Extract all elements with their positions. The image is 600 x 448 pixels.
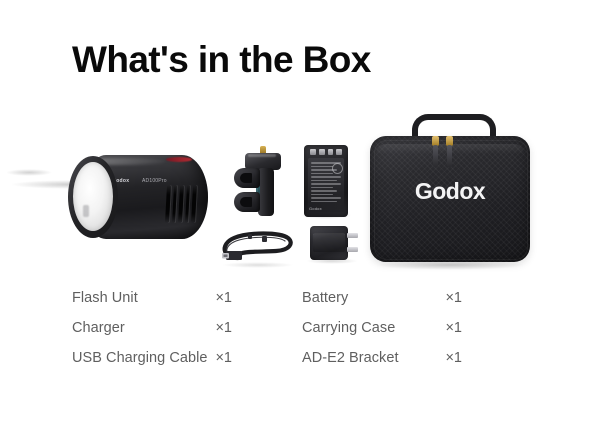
product-image-group: Godox AD100Pro Godox: [0, 100, 600, 280]
box-contents-list: Flash Unit ×1 Charger ×1 USB Charging Ca…: [72, 290, 532, 380]
flash-unit-red-accent: [166, 157, 192, 162]
battery-certification-mark: [332, 163, 343, 174]
bracket-shaft: [258, 168, 274, 216]
box-contents-left-column: Flash Unit ×1 Charger ×1 USB Charging Ca…: [72, 290, 302, 380]
item-quantity: ×1: [215, 290, 302, 306]
item-quantity: ×1: [215, 350, 302, 366]
bracket-clamp-upper: [234, 168, 260, 188]
bracket-shadow: [6, 169, 52, 176]
battery-brand-text: Godox: [309, 206, 322, 211]
item-label: Charger: [72, 320, 125, 336]
carrying-case-logo: Godox: [370, 178, 530, 205]
flash-unit-model-text: AD100Pro: [142, 178, 167, 184]
page-title: What's in the Box: [72, 40, 371, 81]
list-item: AD-E2 Bracket ×1: [302, 350, 532, 380]
product-ad-e2-bracket: [232, 146, 290, 220]
product-usb-charging-cable: [218, 224, 298, 268]
usb-cable-drawing: [218, 224, 298, 268]
item-label: Flash Unit: [72, 290, 138, 306]
product-carrying-case: Godox: [370, 114, 530, 264]
box-contents-right-column: Battery ×1 Carrying Case ×1 AD-E2 Bracke…: [302, 290, 532, 380]
product-battery: Godox: [304, 145, 348, 217]
item-label: Carrying Case: [302, 320, 395, 336]
flash-unit-reflector-dish: [73, 162, 113, 231]
list-item: Battery ×1: [302, 290, 532, 320]
carrying-case-zipper-tab-left: [433, 145, 438, 167]
list-item: Flash Unit ×1: [72, 290, 302, 320]
product-charger: [310, 224, 358, 262]
item-quantity: ×1: [445, 350, 532, 366]
bracket-clamp-lower: [234, 192, 260, 212]
list-item: Carrying Case ×1: [302, 320, 532, 350]
item-quantity: ×1: [445, 320, 532, 336]
flash-unit-flash-tube: [83, 205, 89, 217]
item-label: AD-E2 Bracket: [302, 350, 399, 366]
charger-prong-lower: [347, 247, 358, 252]
carrying-case-zipper-tab-right: [447, 145, 452, 167]
battery-contacts: [310, 149, 342, 155]
list-item: Charger ×1: [72, 320, 302, 350]
item-quantity: ×1: [445, 290, 532, 306]
charger-prong-upper: [347, 233, 358, 238]
flash-unit-vents: [165, 185, 197, 223]
item-label: Battery: [302, 290, 348, 306]
item-label: USB Charging Cable: [72, 350, 208, 366]
charger-face-panel: [313, 233, 345, 252]
list-item: USB Charging Cable ×1: [72, 350, 302, 380]
bracket-head-highlight: [248, 154, 276, 157]
item-quantity: ×1: [215, 320, 302, 336]
product-flash-unit: Godox AD100Pro: [68, 155, 208, 239]
